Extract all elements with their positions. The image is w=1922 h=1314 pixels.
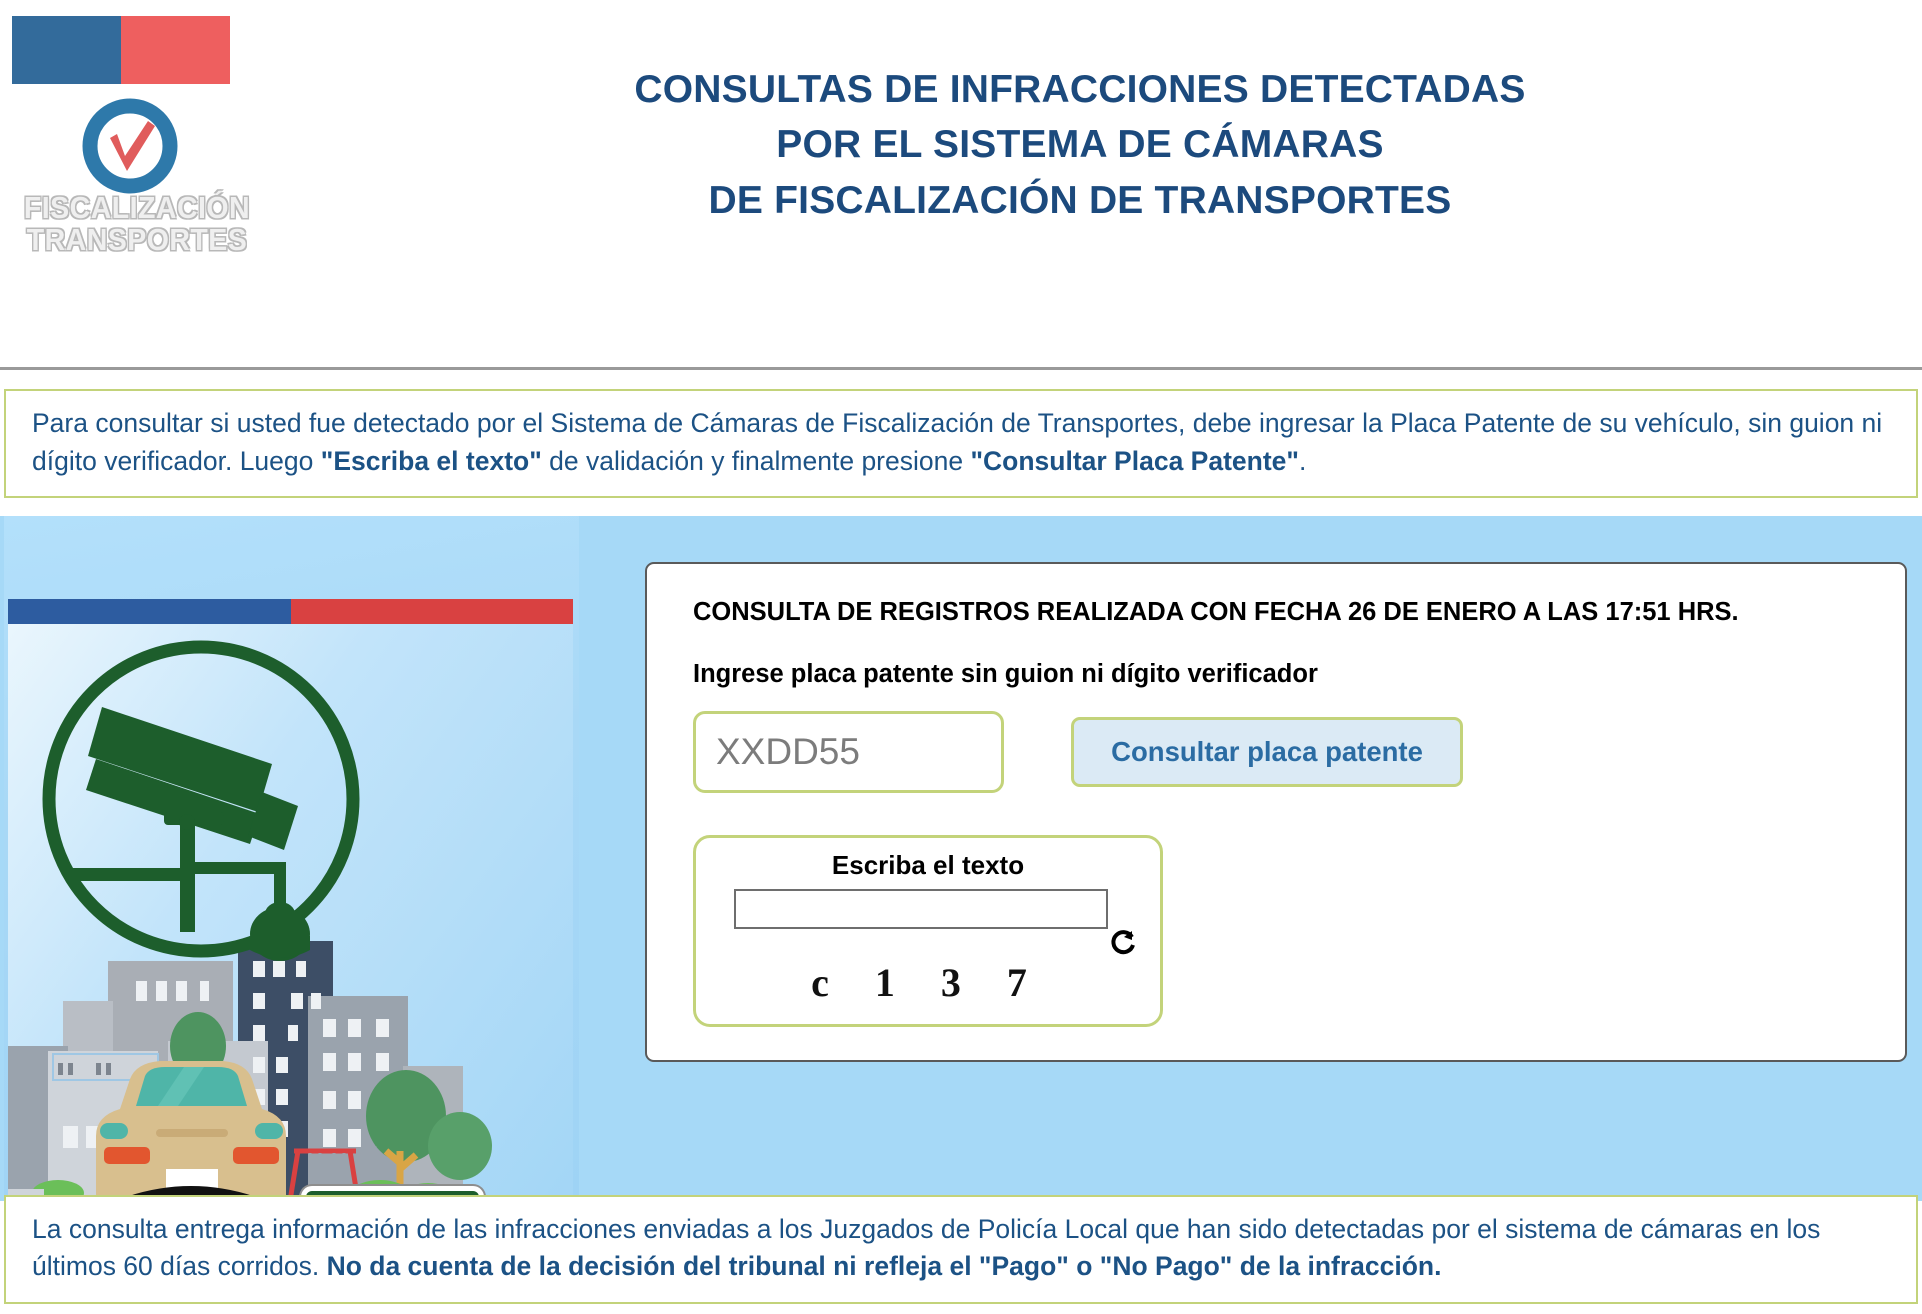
instructions-text-part2: de validación y finalmente presione — [542, 446, 971, 476]
surveillance-camera-icon — [36, 634, 366, 964]
instructions-bold-escriba: "Escriba el texto" — [321, 446, 542, 476]
page-header: FISCALIZACIÓN TRANSPORTES CONSULTAS DE I… — [0, 0, 1922, 370]
disclaimer-bold: No da cuenta de la decisión del tribunal… — [327, 1251, 1442, 1281]
instructions-bold-consultar: "Consultar Placa Patente" — [970, 446, 1299, 476]
page-title-line2: POR EL SISTEMA DE CÁMARAS — [300, 117, 1860, 172]
tree — [428, 1112, 492, 1180]
captcha-code: c 1 3 7 — [720, 959, 1136, 1006]
captcha-input-wrap — [720, 889, 1136, 929]
captcha-box: Escriba el texto c 1 3 7 — [693, 835, 1163, 1027]
logo-word-line1: FISCALIZACIÓN — [22, 192, 252, 224]
refresh-icon[interactable] — [1110, 929, 1138, 957]
illustration-flag-red — [291, 599, 574, 624]
logo-flag-red — [121, 16, 230, 84]
disclaimer-banner: La consulta entrega información de las i… — [4, 1195, 1918, 1304]
plate-input-label: Ingrese placa patente sin guion ni dígit… — [693, 660, 1859, 689]
consultation-timestamp: CONSULTA DE REGISTROS REALIZADA CON FECH… — [693, 594, 1763, 630]
illustration: ZONA DE CONTROL FOTOGRÁFICO — [4, 516, 579, 1201]
consult-plate-button[interactable]: Consultar placa patente — [1071, 717, 1463, 787]
logo-flag-bar — [12, 16, 230, 84]
logo-flag-blue — [12, 16, 121, 84]
illustration-flag-bar — [8, 599, 573, 624]
plate-input[interactable] — [693, 711, 1004, 793]
captcha-input[interactable] — [734, 889, 1108, 929]
instructions-text-part3: . — [1299, 446, 1306, 476]
captcha-label: Escriba el texto — [720, 850, 1136, 881]
logo: FISCALIZACIÓN TRANSPORTES — [12, 16, 292, 276]
page-title-line3: DE FISCALIZACIÓN DE TRANSPORTES — [300, 173, 1860, 228]
page-title: CONSULTAS DE INFRACCIONES DETECTADAS POR… — [300, 62, 1860, 228]
logo-word-line2: TRANSPORTES — [22, 224, 252, 256]
plate-entry-row: Consultar placa patente — [693, 711, 1859, 793]
instructions-banner: Para consultar si usted fue detectado po… — [4, 389, 1918, 498]
page-root: FISCALIZACIÓN TRANSPORTES CONSULTAS DE I… — [0, 0, 1922, 1314]
consultation-form-panel: CONSULTA DE REGISTROS REALIZADA CON FECH… — [645, 562, 1907, 1062]
logo-wordmark: FISCALIZACIÓN TRANSPORTES — [12, 192, 262, 255]
check-circle-icon — [80, 96, 180, 196]
page-title-line1: CONSULTAS DE INFRACCIONES DETECTADAS — [300, 62, 1860, 117]
illustration-flag-blue — [8, 599, 291, 624]
main-content-area: ZONA DE CONTROL FOTOGRÁFICO CONSULTA DE … — [0, 516, 1922, 1201]
